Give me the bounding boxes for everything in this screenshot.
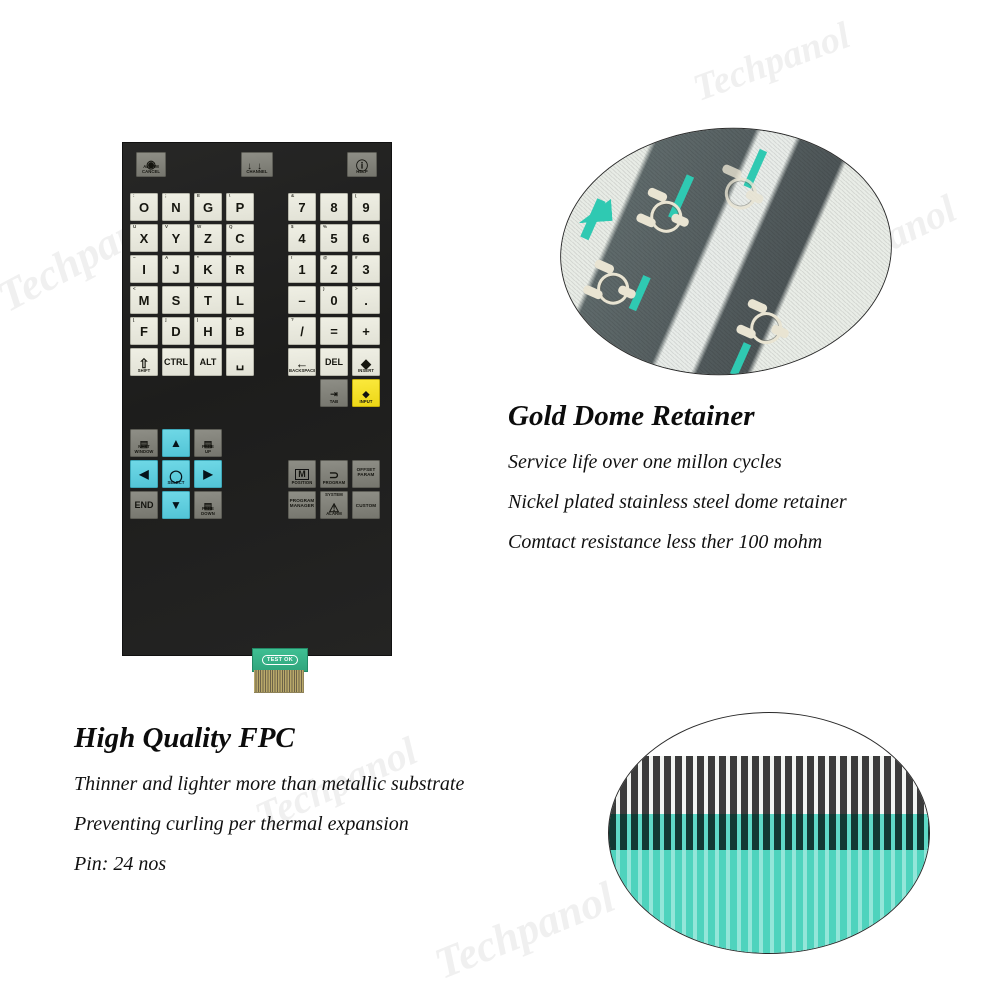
key-l[interactable]: L: [226, 286, 254, 314]
key-superscript: ^: [229, 318, 232, 323]
fpc-pin-array: [609, 713, 929, 953]
key-label: .: [364, 294, 368, 307]
key-superscript: >: [355, 287, 358, 292]
key-label: DEL: [325, 358, 343, 367]
key-page-down[interactable]: ▤PAGEDOWN: [194, 491, 222, 519]
callout-title: Gold Dome Retainer: [508, 400, 978, 433]
key-alarm-cancel[interactable]: ◉ ALARMCANCEL: [136, 152, 166, 177]
key-superscript: V: [165, 225, 168, 230]
key-caption: HELP: [348, 170, 376, 174]
key-superscript: #: [355, 256, 358, 261]
key-d[interactable]: ]D: [162, 317, 190, 345]
key-r[interactable]: "R: [226, 255, 254, 283]
key-num-1[interactable]: !1: [288, 255, 316, 283]
key-label: ⇥: [330, 390, 338, 399]
key-shift[interactable]: ⇧SHIFT: [130, 348, 158, 376]
key-superscript: %: [323, 225, 327, 230]
key-label: ALT: [200, 358, 217, 367]
key-superscript: &: [291, 194, 294, 199]
detail-photo-fpc-pins: [608, 712, 930, 954]
key-num-0[interactable]: )0: [320, 286, 348, 314]
key-cursor-left[interactable]: ◀: [130, 460, 158, 488]
key-label: =: [330, 325, 338, 338]
callout-line: Comtact resistance less ther 100 mohm: [508, 531, 978, 554]
key-p[interactable]: \P: [226, 193, 254, 221]
key-program[interactable]: ⊃PROGRAM: [320, 460, 348, 488]
key-superscript: ?: [291, 318, 294, 323]
key-caption: CUSTOM: [353, 504, 379, 509]
key-delete[interactable]: DEL: [320, 348, 348, 376]
key-label: G: [203, 201, 213, 214]
key-caption: BACKSPACE: [289, 369, 315, 373]
key-num-5[interactable]: %5: [320, 224, 348, 252]
key-label: J: [172, 263, 179, 276]
key-page-up[interactable]: ▤PAGEUP: [194, 429, 222, 457]
watermark: Techpanol: [687, 13, 855, 110]
key-label: L: [236, 294, 244, 307]
key-superscript: A: [165, 256, 168, 261]
key-label: P: [236, 201, 245, 214]
key-label: /: [300, 325, 304, 338]
key-caption: PAGEUP: [195, 445, 221, 454]
key-label: I: [142, 263, 146, 276]
key-system-alarm[interactable]: SYSTEM⚠ALARM: [320, 491, 348, 519]
key-num-=[interactable]: =: [320, 317, 348, 345]
key-superscript: ): [323, 287, 325, 292]
key-j[interactable]: AJ: [162, 255, 190, 283]
key-label: 4: [298, 232, 305, 245]
detail-photo-gold-dome: [552, 117, 900, 387]
key-caption: INSERT: [353, 369, 379, 373]
key-cursor-right[interactable]: ▶: [194, 460, 222, 488]
key-label: H: [203, 325, 212, 338]
key-superscript: Q: [229, 225, 233, 230]
key-label: T: [204, 294, 212, 307]
key-z[interactable]: WZ: [194, 224, 222, 252]
key-label: C: [235, 232, 244, 245]
program-icon: ⊃: [329, 469, 339, 481]
key-space[interactable]: ␣: [226, 348, 254, 376]
key-t[interactable]: 'T: [194, 286, 222, 314]
key-caption: ALARMCANCEL: [137, 165, 165, 174]
key-label: M: [139, 294, 150, 307]
key-label: N: [171, 201, 180, 214]
key-label: +: [362, 325, 370, 338]
key-superscript: W: [197, 225, 201, 230]
key-caption: SELECT: [163, 481, 189, 485]
key-superscript: :: [133, 194, 135, 199]
key-caption: POSITION: [289, 481, 315, 485]
key-label: O: [139, 201, 149, 214]
key-label: 8: [330, 201, 337, 214]
key-num-+[interactable]: +: [352, 317, 380, 345]
key-label: S: [172, 294, 181, 307]
fpc-tail: TEST OK: [252, 648, 308, 672]
key-label: 1: [298, 263, 305, 276]
triangle-up-icon: ▲: [170, 437, 182, 449]
key-x[interactable]: UX: [130, 224, 158, 252]
triangle-right-icon: ▶: [203, 468, 212, 480]
key-f[interactable]: [F: [130, 317, 158, 345]
key-num-–[interactable]: –: [288, 286, 316, 314]
key-alt[interactable]: ALT: [194, 348, 222, 376]
key-label: Z: [204, 232, 212, 245]
key-channel[interactable]: ↓↓ CHANNEL: [241, 152, 273, 177]
key-next-window[interactable]: ▤NEXTWINDOW: [130, 429, 158, 457]
key-h[interactable]: |H: [194, 317, 222, 345]
key-label: 0: [330, 294, 337, 307]
key-superscript: ;: [165, 194, 167, 199]
key-caption: TAB: [321, 400, 347, 404]
key-k[interactable]: *K: [194, 255, 222, 283]
key-num-6[interactable]: 6: [352, 224, 380, 252]
key-num-.[interactable]: >.: [352, 286, 380, 314]
key-label: Y: [172, 232, 181, 245]
dome-arm: [646, 187, 668, 203]
key-superscript: |: [197, 318, 198, 323]
key-superscript: @: [323, 256, 327, 261]
key-custom[interactable]: CUSTOM: [352, 491, 380, 519]
callout-line: Service life over one millon cycles: [508, 451, 978, 474]
membrane-keypad-panel: ◉ ALARMCANCEL ↓↓ CHANNEL ⓘ HELP :O;NEG\P…: [122, 142, 392, 656]
callout-line: Pin: 24 nos: [74, 853, 614, 876]
key-label: CTRL: [164, 358, 188, 367]
key-caption: SHIFT: [131, 369, 157, 373]
key-num-4[interactable]: $4: [288, 224, 316, 252]
key-caption: PROGRAM: [321, 481, 347, 485]
key-label: 7: [298, 201, 305, 214]
key-label: END: [134, 501, 153, 510]
key-cursor-down[interactable]: ▼: [162, 491, 190, 519]
callout-line: Thinner and lighter more than metallic s…: [74, 773, 614, 796]
key-num-8[interactable]: 8: [320, 193, 348, 221]
key-label: ◆: [363, 390, 370, 399]
key-label: 9: [362, 201, 369, 214]
key-b[interactable]: ^B: [226, 317, 254, 345]
key-caption: NEXTWINDOW: [131, 445, 157, 454]
key-i[interactable]: ~I: [130, 255, 158, 283]
callout-gold-dome-retainer: Gold Dome Retainer Service life over one…: [508, 400, 978, 571]
key-g[interactable]: EG: [194, 193, 222, 221]
test-ok-stamp: TEST OK: [262, 655, 298, 665]
key-position[interactable]: MPOSITION: [288, 460, 316, 488]
key-caption: PROGRAMMANAGER: [289, 499, 315, 509]
key-superscript: E: [197, 194, 200, 199]
dome-arm: [593, 259, 615, 275]
key-c[interactable]: QC: [226, 224, 254, 252]
key-offset-param[interactable]: OFFSETPARAM: [352, 460, 380, 488]
key-help[interactable]: ⓘ HELP: [347, 152, 377, 177]
callout-line: Nickel plated stainless steel dome retai…: [508, 491, 978, 514]
triangle-left-icon: ◀: [139, 468, 148, 480]
key-label: ␣: [236, 356, 244, 369]
key-superscript: $: [291, 225, 294, 230]
key-y[interactable]: VY: [162, 224, 190, 252]
key-superscript: *: [197, 256, 199, 261]
key-label: 2: [330, 263, 337, 276]
key-end[interactable]: END: [130, 491, 158, 519]
key-superscript: ]: [165, 318, 167, 323]
key-ctrl[interactable]: CTRL: [162, 348, 190, 376]
key-num-9[interactable]: (9: [352, 193, 380, 221]
key-superscript: ': [197, 287, 198, 292]
key-label: B: [235, 325, 244, 338]
key-superscript: [: [133, 318, 135, 323]
key-backspace[interactable]: ←BACKSPACE: [288, 348, 316, 376]
key-program-manager[interactable]: PROGRAMMANAGER: [288, 491, 316, 519]
triangle-down-icon: ▼: [170, 499, 182, 511]
dome-arm: [746, 298, 768, 314]
key-insert[interactable]: ◆INSERT: [352, 348, 380, 376]
key-label: F: [140, 325, 148, 338]
fpc-green-substrate: [609, 850, 929, 953]
key-select[interactable]: ◯SELECT: [162, 460, 190, 488]
key-label: 6: [362, 232, 369, 245]
key-o[interactable]: :O: [130, 193, 158, 221]
key-m[interactable]: <M: [130, 286, 158, 314]
fpc-contact-fingers: [254, 670, 304, 693]
key-label: R: [235, 263, 244, 276]
key-caption: OFFSETPARAM: [353, 468, 379, 478]
key-label: X: [140, 232, 149, 245]
key-superscript: (: [355, 194, 357, 199]
m-box-icon: M: [295, 469, 309, 480]
substrate-texture: [552, 117, 900, 387]
key-superscript: ": [229, 256, 231, 261]
key-caption-top: SYSTEM: [321, 493, 347, 497]
key-num-/[interactable]: ?/: [288, 317, 316, 345]
key-label: 3: [362, 263, 369, 276]
key-caption: PAGEDOWN: [195, 507, 221, 516]
key-superscript: ~: [133, 256, 136, 261]
callout-title: High Quality FPC: [74, 722, 614, 755]
key-superscript: U: [133, 225, 136, 230]
key-label: K: [203, 263, 212, 276]
callout-line: Preventing curling per thermal expansion: [74, 813, 614, 836]
key-label: 5: [330, 232, 337, 245]
key-caption: ALARM: [321, 512, 347, 516]
key-label: –: [298, 294, 305, 307]
dome-arm: [721, 163, 743, 179]
callout-high-quality-fpc: High Quality FPC Thinner and lighter mor…: [74, 722, 614, 893]
key-cursor-up[interactable]: ▲: [162, 429, 190, 457]
key-num-3[interactable]: #3: [352, 255, 380, 283]
key-n[interactable]: ;N: [162, 193, 190, 221]
key-superscript: \: [229, 194, 230, 199]
key-label: D: [171, 325, 180, 338]
key-tab[interactable]: ⇥TAB: [320, 379, 348, 407]
key-caption: CHANNEL: [242, 170, 272, 174]
key-superscript: !: [291, 256, 293, 261]
key-superscript: <: [133, 287, 136, 292]
key-s[interactable]: S: [162, 286, 190, 314]
key-caption: INPUT: [353, 400, 379, 404]
key-num-7[interactable]: &7: [288, 193, 316, 221]
key-input[interactable]: ◆INPUT: [352, 379, 380, 407]
key-num-2[interactable]: @2: [320, 255, 348, 283]
